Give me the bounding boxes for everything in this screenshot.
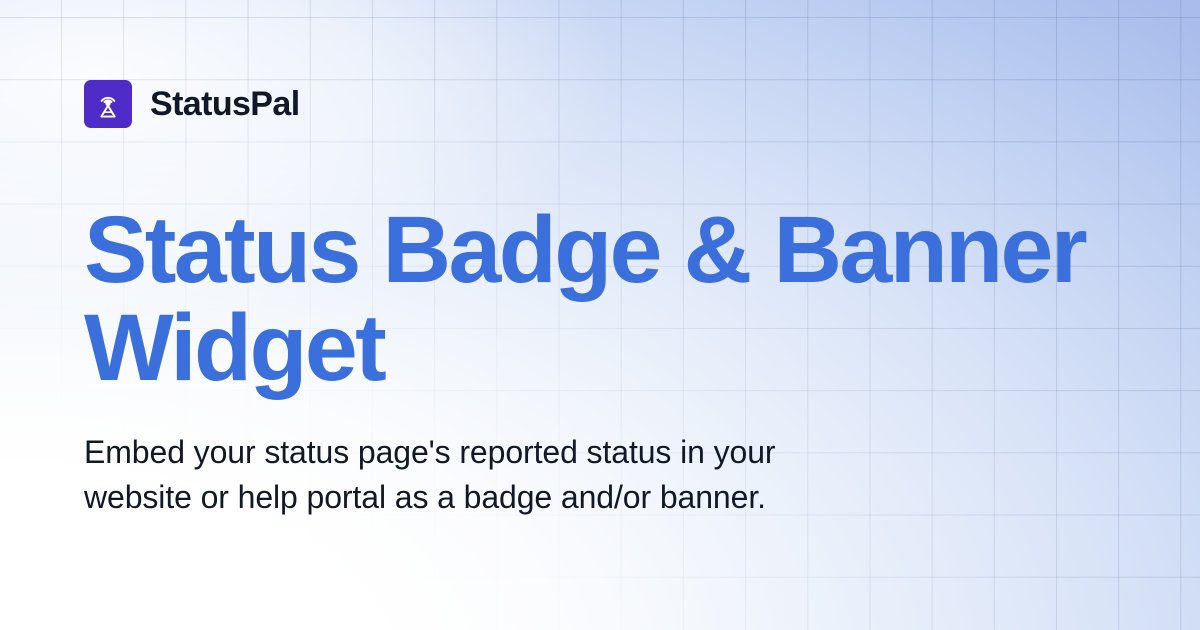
page-title: Status Badge & Banner Widget: [84, 201, 1124, 397]
page-subtitle: Embed your status page's reported status…: [84, 430, 884, 520]
card-content: StatusPal Status Badge & Banner Widget E…: [0, 0, 1200, 630]
brand-name: StatusPal: [150, 87, 300, 121]
brand-lockup[interactable]: StatusPal: [84, 80, 1116, 128]
broadcast-tower-icon: [84, 80, 132, 128]
og-card: StatusPal Status Badge & Banner Widget E…: [0, 0, 1200, 630]
